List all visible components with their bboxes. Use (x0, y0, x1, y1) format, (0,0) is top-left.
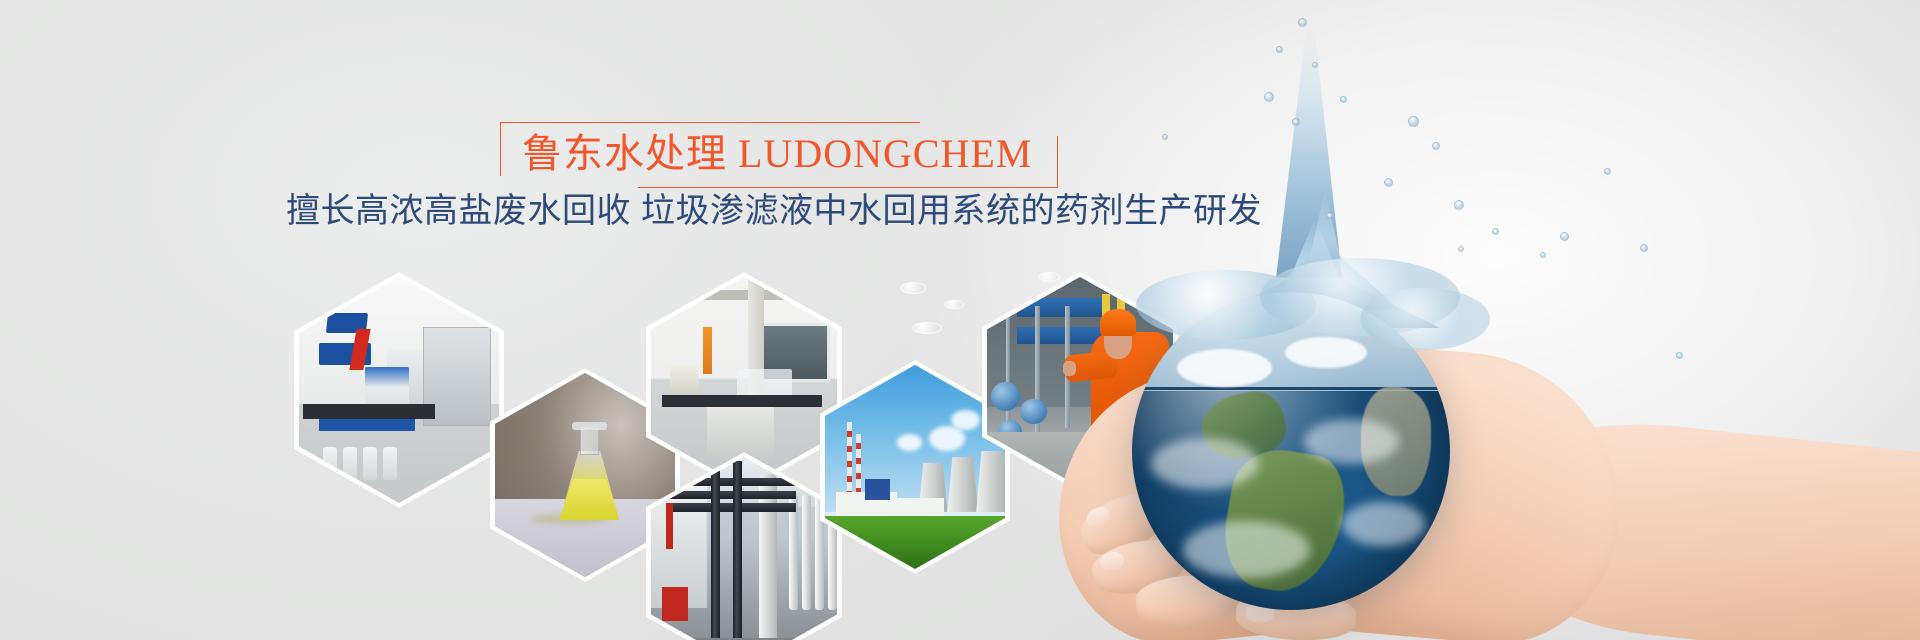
rim-splash (1360, 288, 1490, 350)
hex-power-plant[interactable] (820, 360, 1010, 574)
decorative-bubble (912, 322, 942, 334)
cloud (1342, 502, 1425, 547)
cloud (1151, 438, 1259, 489)
water-droplet (1676, 352, 1683, 359)
water-droplet (1384, 178, 1393, 187)
water-droplet (1458, 246, 1464, 252)
bracket-left-top-rule (500, 122, 920, 123)
bracket-left-vertical (500, 122, 501, 176)
water-droplet (1454, 200, 1464, 210)
hands-holding-water-globe-artwork (1040, 0, 1920, 640)
water-droplet (1492, 228, 1499, 235)
water-droplet (1432, 142, 1440, 150)
water-droplet (1312, 62, 1318, 68)
decorative-bubble (944, 300, 964, 309)
hero-banner: 鲁东水处理 LUDONGCHEM 擅长高浓高盐废水回收 垃圾渗滤液中水回用系统的… (0, 0, 1920, 640)
water-droplet (1326, 212, 1334, 220)
water-droplet (1298, 18, 1307, 27)
water-droplet (1540, 252, 1546, 258)
splash-foam (1285, 337, 1368, 369)
hex-lab-slogan[interactable] (294, 272, 504, 508)
water-droplet (1276, 46, 1283, 53)
title-bracket-box: 鲁东水处理 LUDONGCHEM (500, 122, 1058, 188)
cloud (1183, 521, 1310, 578)
water-droplet (1604, 168, 1611, 175)
water-droplet (1408, 116, 1419, 127)
water-droplet (1292, 118, 1300, 126)
water-droplet (1340, 96, 1347, 103)
hex-image-laboratory-room (299, 277, 499, 503)
water-droplet (1162, 134, 1168, 140)
water-droplet (1264, 92, 1274, 102)
decorative-bubble (900, 282, 926, 294)
cloud (1304, 419, 1399, 464)
water-droplet (1560, 232, 1569, 241)
water-droplet (1640, 244, 1648, 252)
brand-title: 鲁东水处理 LUDONGCHEM (522, 128, 1032, 180)
title-block: 鲁东水处理 LUDONGCHEM (500, 122, 1058, 188)
